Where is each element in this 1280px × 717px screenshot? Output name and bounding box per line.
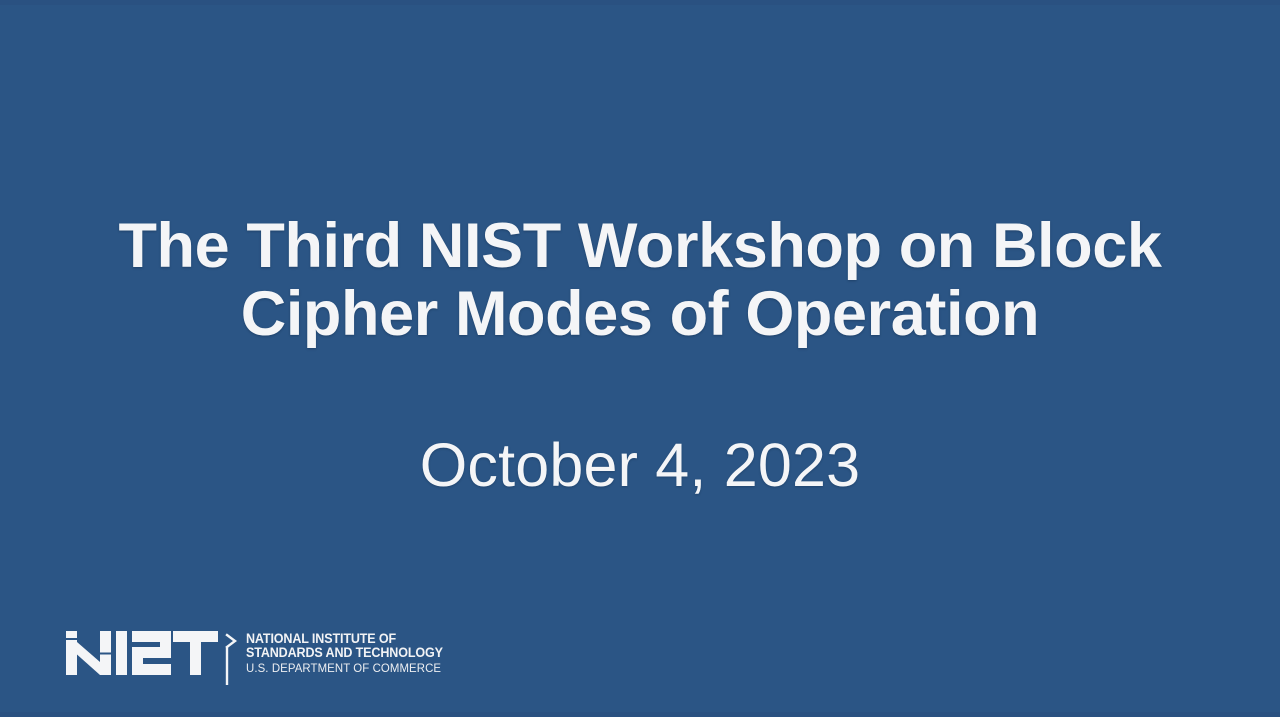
- logo-line-2: STANDARDS AND TECHNOLOGY: [246, 646, 443, 660]
- date-block: October 4, 2023: [0, 432, 1280, 499]
- logo-line-3: U.S. DEPARTMENT OF COMMERCE: [246, 662, 447, 674]
- title-slide: The Third NIST Workshop on Block Cipher …: [0, 0, 1280, 717]
- logo-text-block: NATIONAL INSTITUTE OF STANDARDS AND TECH…: [246, 627, 458, 674]
- title-block: The Third NIST Workshop on Block Cipher …: [0, 212, 1280, 348]
- logo-line-1: NATIONAL INSTITUTE OF: [246, 632, 443, 646]
- nist-logo: NATIONAL INSTITUTE OF STANDARDS AND TECH…: [66, 627, 458, 689]
- slide-title: The Third NIST Workshop on Block Cipher …: [0, 212, 1280, 348]
- letterbox-band-bottom: [0, 712, 1280, 717]
- logo-divider-icon: [224, 627, 240, 685]
- slide-date: October 4, 2023: [0, 432, 1280, 499]
- letterbox-band-top: [0, 0, 1280, 5]
- nist-wordmark-icon: [66, 627, 218, 677]
